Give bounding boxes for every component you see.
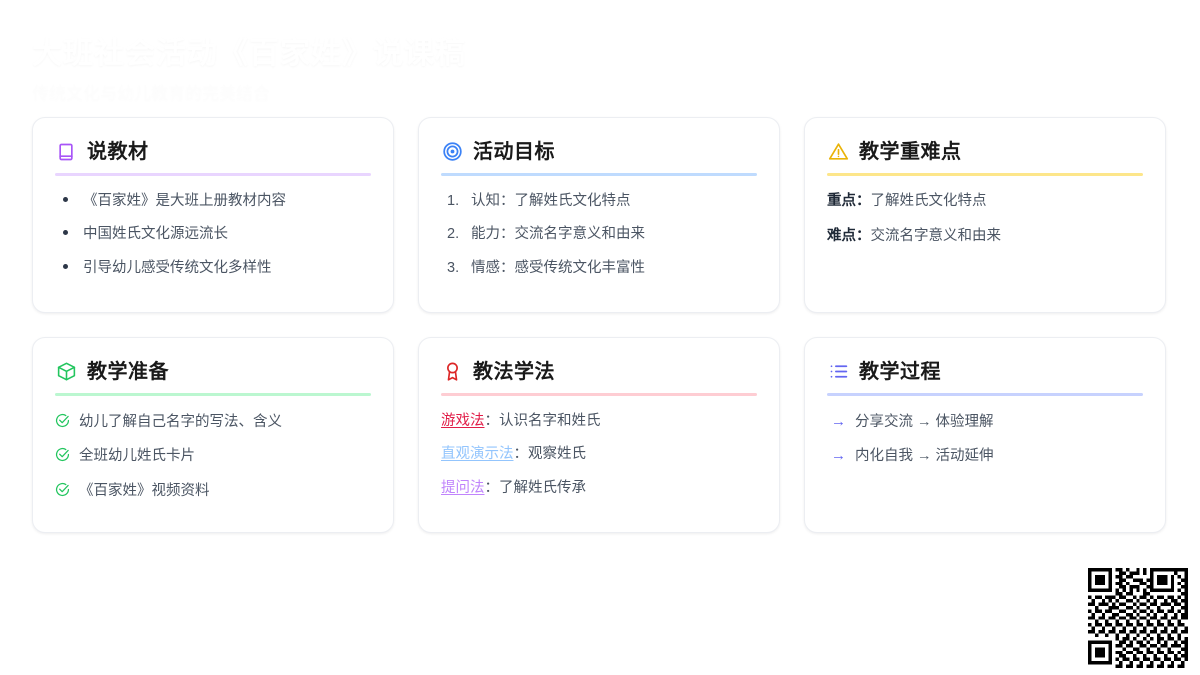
page-subtitle: 传统文化与幼儿教育的完美结合: [32, 83, 1168, 105]
method-name[interactable]: 直观演示法: [441, 446, 514, 462]
card-jiaoxue-zhongnandian[interactable]: 教学重难点 重点：了解姓氏文化特点 难点：交流名字意义和由来: [804, 117, 1166, 313]
list-item: 提问法：了解姓氏传承: [441, 478, 757, 500]
card-title: 教学过程: [859, 360, 941, 384]
list-item: → 内化自我 → 活动延伸: [827, 445, 1143, 468]
card-accent-rule: [441, 393, 757, 396]
card-body-list: 重点：了解姓氏文化特点 难点：交流名字意义和由来: [827, 191, 1143, 249]
qr-code-image: [1088, 568, 1188, 668]
page-header: 大班社会活动《百家姓》说课稿 传统文化与幼儿教育的完美结合: [0, 0, 1200, 115]
method-separator: ：: [485, 413, 500, 429]
check-circle-icon: [55, 482, 70, 497]
keypoint-key: 难点：: [827, 228, 871, 244]
list-item: 2. 能力：交流名字意义和由来: [441, 224, 757, 246]
list-number: 1.: [447, 191, 462, 213]
method-name[interactable]: 提问法: [441, 480, 485, 496]
list-item-label: 认知：了解姓氏文化特点: [471, 191, 631, 213]
list-item: 1. 认知：了解姓氏文化特点: [441, 191, 757, 213]
method-description: 认识名字和姓氏: [499, 413, 601, 429]
list-item-label: 中国姓氏文化源远流长: [83, 224, 228, 246]
card-title: 活动目标: [473, 140, 555, 164]
method-name[interactable]: 游戏法: [441, 413, 485, 429]
list-item: 《百家姓》视频资料: [55, 480, 371, 503]
list-item-label: 幼儿了解自己名字的写法、含义: [79, 412, 282, 434]
card-accent-rule: [55, 173, 371, 176]
card-body-list: → 分享交流 → 体验理解 → 内化自我 → 活动延伸: [827, 411, 1143, 469]
keypoint-value: 交流名字意义和由来: [871, 228, 1002, 244]
card-shuo-jiaocai[interactable]: 说教材 《百家姓》是大班上册教材内容 中国姓氏文化源远流长 引导幼儿感受传统文化…: [32, 117, 394, 313]
card-accent-rule: [441, 173, 757, 176]
list-item: 中国姓氏文化源远流长: [55, 224, 371, 246]
method-separator: ：: [485, 480, 500, 496]
list-item: 《百家姓》是大班上册教材内容: [55, 191, 371, 213]
list-icon: [827, 361, 849, 383]
method-description: 了解姓氏传承: [499, 480, 586, 496]
card-title: 教法学法: [473, 360, 555, 384]
card-title: 说教材: [87, 140, 149, 164]
bullet-icon: [63, 197, 68, 202]
list-item: 幼儿了解自己名字的写法、含义: [55, 411, 371, 434]
list-item-label: 情感：感受传统文化丰富性: [471, 258, 645, 280]
card-jiaoxue-zhunbei[interactable]: 教学准备 幼儿了解自己名字的写法、含义: [32, 337, 394, 533]
card-header: 说教材: [55, 140, 371, 173]
card-jiaofa-xuefa[interactable]: 教法学法 游戏法：认识名字和姓氏 直观演示法：观察姓氏 提问法：了解姓氏传承: [418, 337, 780, 533]
card-header: 教法学法: [441, 360, 757, 393]
card-accent-rule: [55, 393, 371, 396]
card-header: 教学过程: [827, 360, 1143, 393]
keypoint-value: 了解姓氏文化特点: [871, 193, 987, 209]
list-item: 重点：了解姓氏文化特点: [827, 191, 1143, 213]
keypoint-key: 重点：: [827, 193, 871, 209]
card-grid: 说教材 《百家姓》是大班上册教材内容 中国姓氏文化源远流长 引导幼儿感受传统文化…: [0, 117, 1200, 533]
package-icon: [55, 361, 77, 383]
card-body-list: 游戏法：认识名字和姓氏 直观演示法：观察姓氏 提问法：了解姓氏传承: [441, 411, 757, 500]
list-item: 引导幼儿感受传统文化多样性: [55, 258, 371, 280]
card-body-list: 《百家姓》是大班上册教材内容 中国姓氏文化源远流长 引导幼儿感受传统文化多样性: [55, 191, 371, 280]
list-item-label: 《百家姓》是大班上册教材内容: [83, 191, 286, 213]
card-body-list: 幼儿了解自己名字的写法、含义 全班幼儿姓氏卡片: [55, 411, 371, 503]
bullet-icon: [63, 264, 68, 269]
card-accent-rule: [827, 173, 1143, 176]
card-title: 教学准备: [87, 360, 169, 384]
method-description: 观察姓氏: [528, 446, 586, 462]
list-item: 难点：交流名字意义和由来: [827, 226, 1143, 248]
bullet-icon: [63, 230, 68, 235]
check-circle-icon: [55, 447, 70, 462]
arrow-right-icon: →: [831, 445, 846, 468]
arrow-right-icon: →: [831, 411, 846, 434]
list-item: 全班幼儿姓氏卡片: [55, 445, 371, 468]
slide-page: 大班社会活动《百家姓》说课稿 传统文化与幼儿教育的完美结合 说教材 《百家姓》是…: [0, 0, 1200, 675]
warning-triangle-icon: [827, 141, 849, 163]
target-icon: [441, 141, 463, 163]
card-header: 活动目标: [441, 140, 757, 173]
method-separator: ：: [514, 446, 529, 462]
qr-code[interactable]: [1088, 568, 1188, 668]
card-huodong-mubiao[interactable]: 活动目标 1. 认知：了解姓氏文化特点 2. 能力：交流名字意义和由来 3. 情…: [418, 117, 780, 313]
list-item-label: 全班幼儿姓氏卡片: [79, 446, 195, 468]
card-body-list: 1. 认知：了解姓氏文化特点 2. 能力：交流名字意义和由来 3. 情感：感受传…: [441, 191, 757, 280]
card-title: 教学重难点: [859, 140, 962, 164]
list-item-label: 《百家姓》视频资料: [79, 481, 210, 503]
card-header: 教学重难点: [827, 140, 1143, 173]
card-header: 教学准备: [55, 360, 371, 393]
list-item-label: 引导幼儿感受传统文化多样性: [83, 258, 272, 280]
list-item-label: 内化自我 → 活动延伸: [855, 446, 994, 468]
list-number: 3.: [447, 258, 462, 280]
book-icon: [55, 141, 77, 163]
list-number: 2.: [447, 224, 462, 246]
list-item-label: 分享交流 → 体验理解: [855, 412, 994, 434]
list-item: 直观演示法：观察姓氏: [441, 444, 757, 466]
list-item: 3. 情感：感受传统文化丰富性: [441, 258, 757, 280]
award-medal-icon: [441, 361, 463, 383]
list-item: 游戏法：认识名字和姓氏: [441, 411, 757, 433]
card-accent-rule: [827, 393, 1143, 396]
page-title: 大班社会活动《百家姓》说课稿: [32, 34, 1168, 75]
list-item-label: 能力：交流名字意义和由来: [471, 224, 645, 246]
card-jiaoxue-guocheng[interactable]: 教学过程 → 分享交流 → 体验理解 → 内化自我 → 活动延伸: [804, 337, 1166, 533]
check-circle-icon: [55, 413, 70, 428]
list-item: → 分享交流 → 体验理解: [827, 411, 1143, 434]
